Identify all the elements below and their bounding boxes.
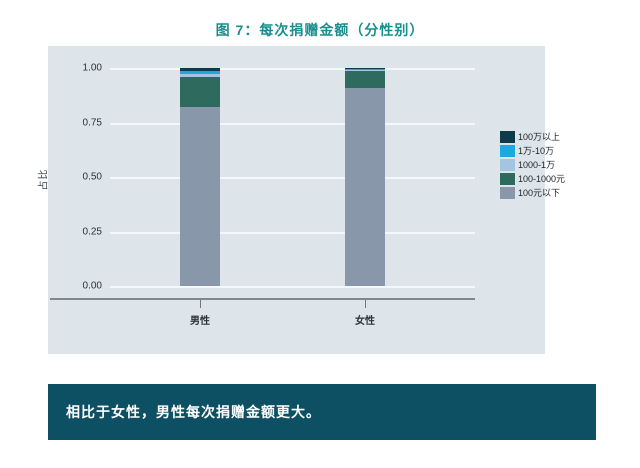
legend-item[interactable]: 1万-10万 (500, 144, 586, 158)
x-tick-label: 男性 (190, 312, 210, 327)
legend-label: 100-1000元 (518, 173, 565, 185)
legend-item[interactable]: 1000-1万 (500, 158, 586, 172)
legend-swatch (500, 187, 515, 199)
gridline: 0.75 (110, 123, 475, 125)
y-tick-label: 1.00 (83, 63, 102, 74)
gridline: 0.25 (110, 232, 475, 234)
caption-banner: 相比于女性，男性每次捐赠金额更大。 (48, 384, 596, 440)
gridline: 0.50 (110, 177, 475, 179)
legend-item[interactable]: 100万以上 (500, 130, 586, 144)
y-axis-title: 占比 (35, 150, 50, 210)
legend-swatch (500, 173, 515, 185)
bar-segment[interactable] (180, 107, 220, 286)
legend-swatch (500, 159, 515, 171)
x-axis-line (50, 298, 475, 300)
legend-label: 1000-1万 (518, 159, 555, 171)
gridline: 0.00 (110, 286, 475, 288)
legend-swatch (500, 131, 515, 143)
stacked-bar-female[interactable] (345, 68, 385, 286)
y-tick-label: 0.50 (83, 172, 102, 183)
y-tick-label: 0.75 (83, 117, 102, 128)
legend-label: 100万以上 (518, 131, 560, 143)
page-title: 图 7：每次捐赠金额（分性别） (0, 20, 640, 40)
legend-swatch (500, 145, 515, 157)
bar-segment[interactable] (345, 71, 385, 88)
plot-area: 0.000.250.500.751.00 (110, 68, 475, 286)
bar-segment[interactable] (180, 77, 220, 107)
chart-legend: 100万以上1万-10万1000-1万100-1000元100元以下 (500, 130, 586, 200)
y-tick-label: 0.00 (83, 281, 102, 292)
gridline: 1.00 (110, 68, 475, 70)
caption-text: 相比于女性，男性每次捐赠金额更大。 (66, 402, 321, 422)
legend-item[interactable]: 100元以下 (500, 186, 586, 200)
x-tick-label: 女性 (355, 312, 375, 327)
x-tick-mark (365, 300, 366, 308)
stacked-bar-male[interactable] (180, 68, 220, 286)
y-tick-label: 0.25 (83, 226, 102, 237)
legend-item[interactable]: 100-1000元 (500, 172, 586, 186)
chart-panel: 占比 0.000.250.500.751.00 男性女性 100万以上1万-10… (48, 46, 545, 354)
x-tick-mark (200, 300, 201, 308)
legend-label: 100元以下 (518, 187, 560, 199)
bar-segment[interactable] (345, 88, 385, 286)
legend-label: 1万-10万 (518, 145, 554, 157)
